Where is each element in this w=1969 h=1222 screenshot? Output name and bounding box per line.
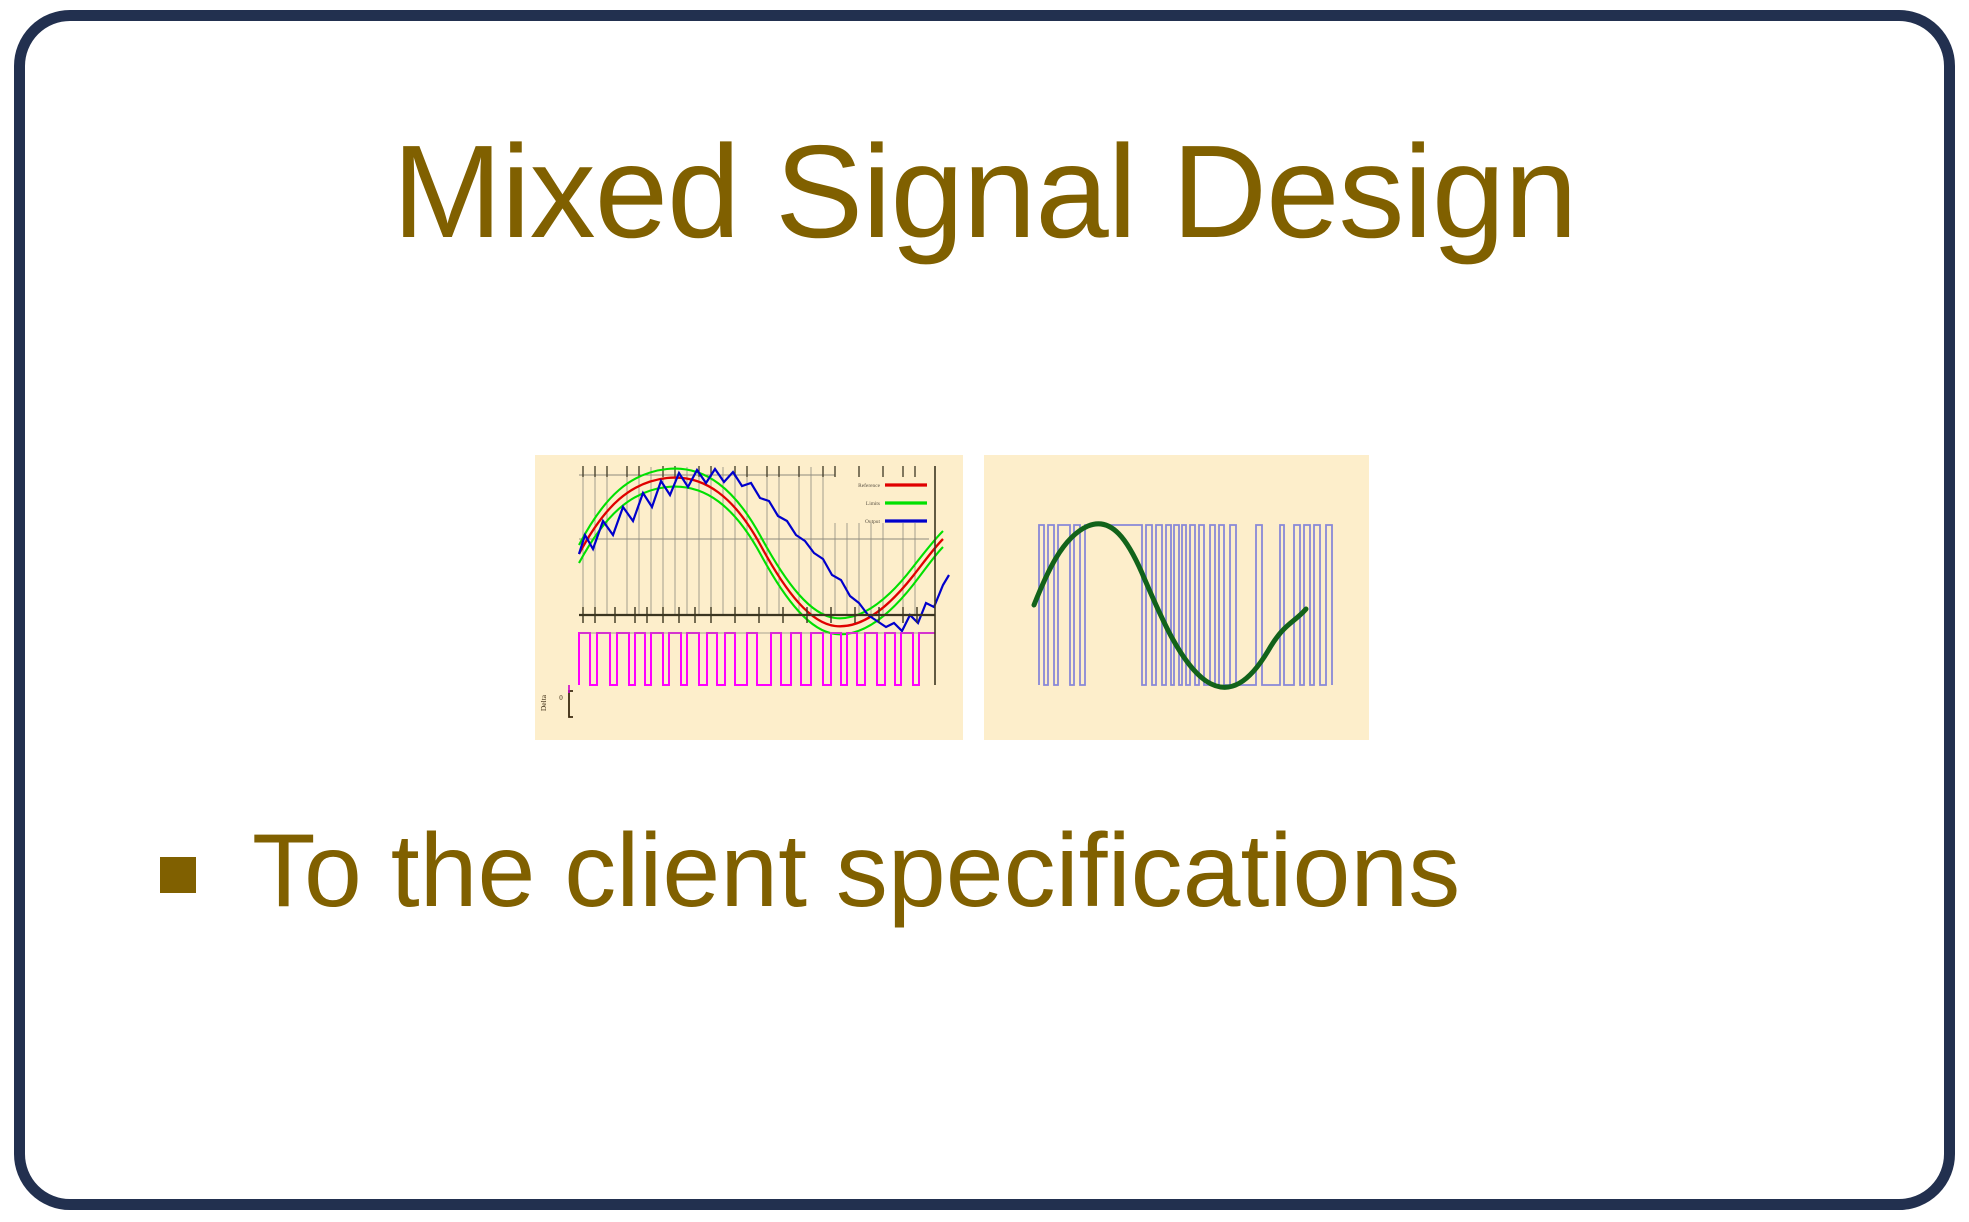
axis-delta-label: Delta [539,694,548,711]
figure-pwm-bitstream-with-sine [984,455,1369,740]
chart-background [984,455,1369,740]
bullet-item-label: To the client specifications [252,817,1460,926]
slide-canvas: Mixed Signal Design [0,0,1969,1222]
figures-row: 0 Delta Reference Limits Output [535,455,1385,740]
delta-sigma-chart-svg: 0 Delta Reference Limits Output [535,455,963,740]
figure-delta-sigma-modulator-waveforms: 0 Delta Reference Limits Output [535,455,963,740]
bullet-list: To the client specifications [160,812,1860,932]
legend-label-reference: Reference [858,482,880,489]
page-title: Mixed Signal Design [0,126,1969,258]
chart-background [535,455,963,740]
legend-label-output: Output [865,519,880,525]
legend-label-limits: Limits [866,501,880,507]
axis-zero-label: 0 [559,694,563,702]
square-bullet-icon [160,857,196,893]
pwm-chart-svg [984,455,1369,740]
